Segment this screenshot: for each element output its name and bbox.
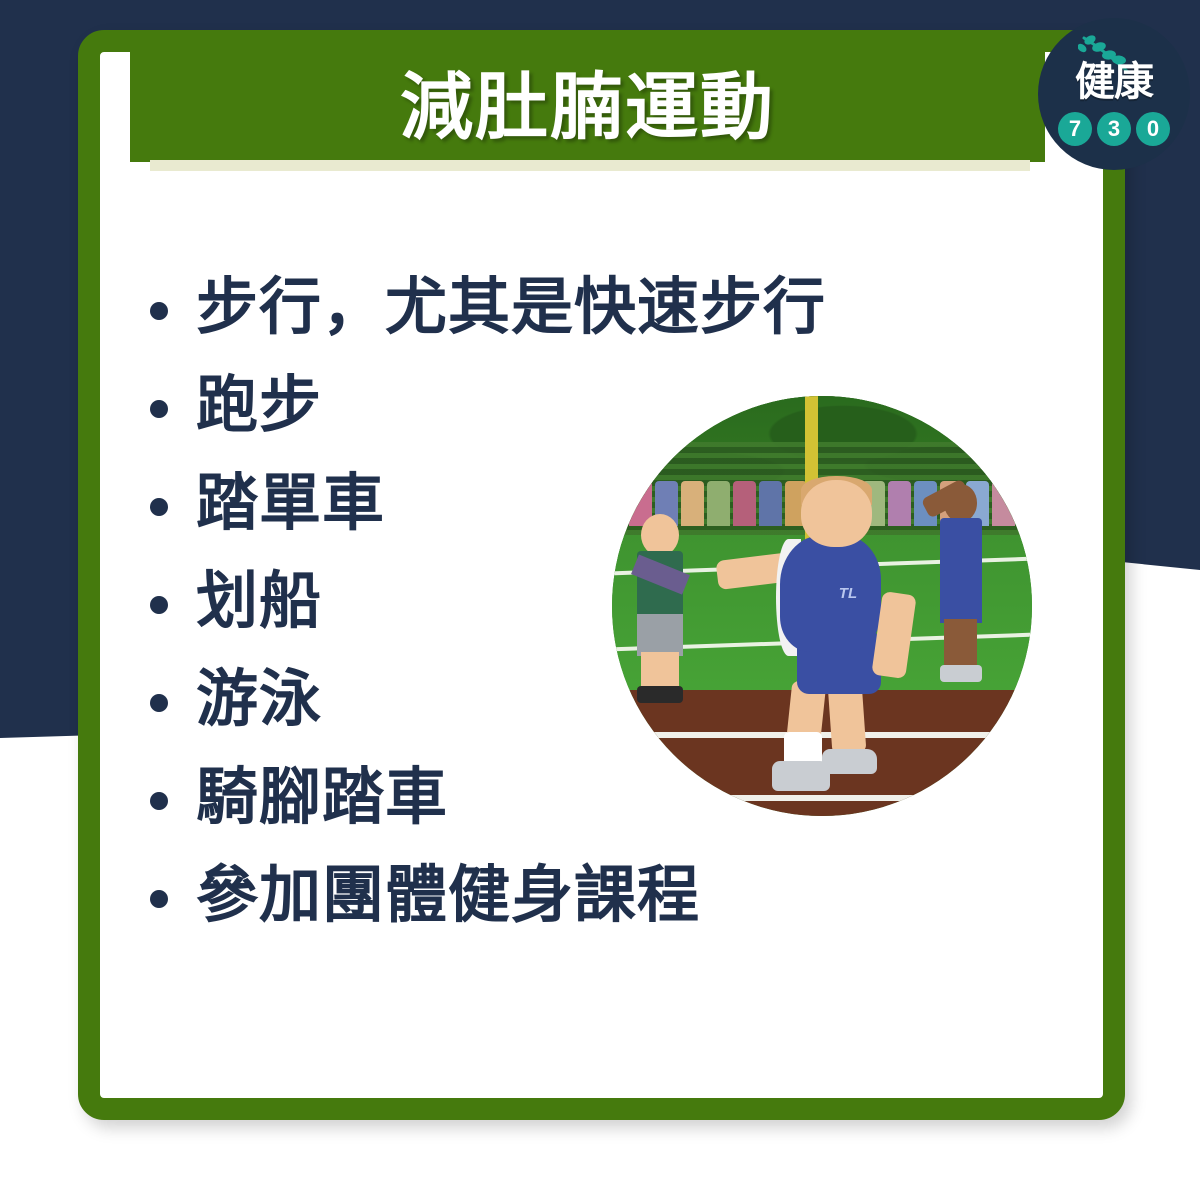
photo-track-line	[612, 732, 1032, 738]
list-item-label: 划船	[196, 564, 322, 640]
list-item-label: 游泳	[196, 662, 322, 738]
brand-logo: 健康 7 3 0	[1038, 18, 1190, 170]
bullet-icon	[150, 400, 168, 418]
list-item-label: 騎腳踏車	[196, 760, 448, 836]
logo-digit-7: 7	[1058, 112, 1092, 146]
logo-wordmark: 健康	[1038, 62, 1190, 102]
photo-right-runner-shorts	[940, 581, 982, 623]
page-title: 減肚腩運動	[130, 40, 1045, 162]
list-item: 步行，尤其是快速步行	[150, 270, 930, 346]
bullet-icon	[150, 890, 168, 908]
logo-digits: 7 3 0	[1038, 112, 1190, 146]
bullet-icon	[150, 792, 168, 810]
title-banner: 減肚腩運動	[130, 40, 1045, 162]
bullet-icon	[150, 596, 168, 614]
photo-left-onlooker	[641, 514, 679, 556]
list-item-label: 步行，尤其是快速步行	[196, 270, 826, 346]
bullet-icon	[150, 302, 168, 320]
infographic-card: 減肚腩運動 健康 7 3 0 步行，尤其是快速步行 跑步 踏單車	[0, 0, 1200, 1200]
photo-right-runner-shoes	[940, 665, 982, 682]
title-underline	[150, 160, 1030, 171]
logo-digit-0: 0	[1136, 112, 1170, 146]
logo-digit-3: 3	[1097, 112, 1131, 146]
photo-left-onlooker-shorts	[637, 614, 683, 656]
list-item-label: 踏單車	[196, 466, 385, 542]
list-item-label: 跑步	[196, 368, 322, 444]
list-item: 參加團體健身課程	[150, 858, 930, 934]
photo-left-onlooker-shoes	[637, 686, 683, 703]
bullet-icon	[150, 694, 168, 712]
photo-right-runner-body	[940, 518, 982, 585]
photo-jersey-text: TL	[839, 585, 857, 602]
bullet-icon	[150, 498, 168, 516]
photo-track-line	[612, 795, 1032, 801]
photo-main-athlete-shoe-right	[822, 749, 877, 774]
athlete-photo: TL	[612, 396, 1032, 816]
list-item-label: 參加團體健身課程	[196, 858, 700, 934]
photo-main-athlete-head	[801, 480, 872, 547]
photo-main-athlete-shoe-left	[772, 761, 831, 790]
photo-main-athlete-jersey	[780, 535, 881, 653]
